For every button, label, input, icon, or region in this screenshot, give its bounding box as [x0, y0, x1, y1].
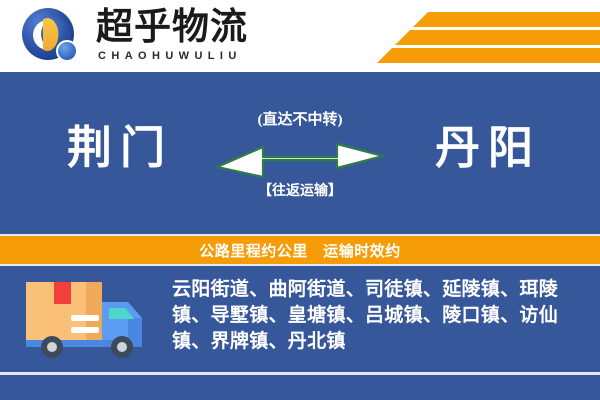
- speed-stripes-icon: [340, 6, 600, 66]
- double-headed-arrow-icon: [215, 134, 385, 180]
- logo-accent-dot-icon: [56, 40, 78, 62]
- origin-city: 荆门: [16, 120, 216, 176]
- arrow-shape: [215, 134, 385, 180]
- delivery-truck-icon: [24, 278, 164, 360]
- route-middle-block: (直达不中转) 【往返运输】: [215, 110, 385, 202]
- coverage-section: 云阳街道、曲阿街道、司徒镇、延陵镇、珥陵镇、导墅镇、皇塘镇、吕城镇、陵口镇、访仙…: [0, 266, 600, 372]
- route-note-roundtrip: 【往返运输】: [215, 182, 385, 202]
- distance-duration-strip: 公路里程约公里 运输时效约: [0, 234, 600, 266]
- company-logo: [22, 6, 84, 66]
- destination-city: 丹阳: [384, 120, 584, 176]
- route-note-direct: (直达不中转): [215, 110, 385, 130]
- banner-footer: [0, 375, 600, 400]
- distance-duration-text: 公路里程约公里 运输时效约: [199, 240, 401, 261]
- brand-name-cn: 超乎物流: [96, 6, 248, 50]
- coverage-area-list: 云阳街道、曲阿街道、司徒镇、延陵镇、珥陵镇、导墅镇、皇塘镇、吕城镇、陵口镇、访仙…: [172, 277, 584, 355]
- route-section: 荆门 (直达不中转) 【往返运输】 丹阳: [0, 72, 600, 234]
- banner-header: 超乎物流 CHAOHUWULIU: [0, 0, 600, 72]
- brand-name-en: CHAOHUWULIU: [98, 50, 242, 62]
- logistics-route-banner: 超乎物流 CHAOHUWULIU 荆门 (直达不中转) 【往返运输】 丹阳 公路…: [0, 0, 600, 400]
